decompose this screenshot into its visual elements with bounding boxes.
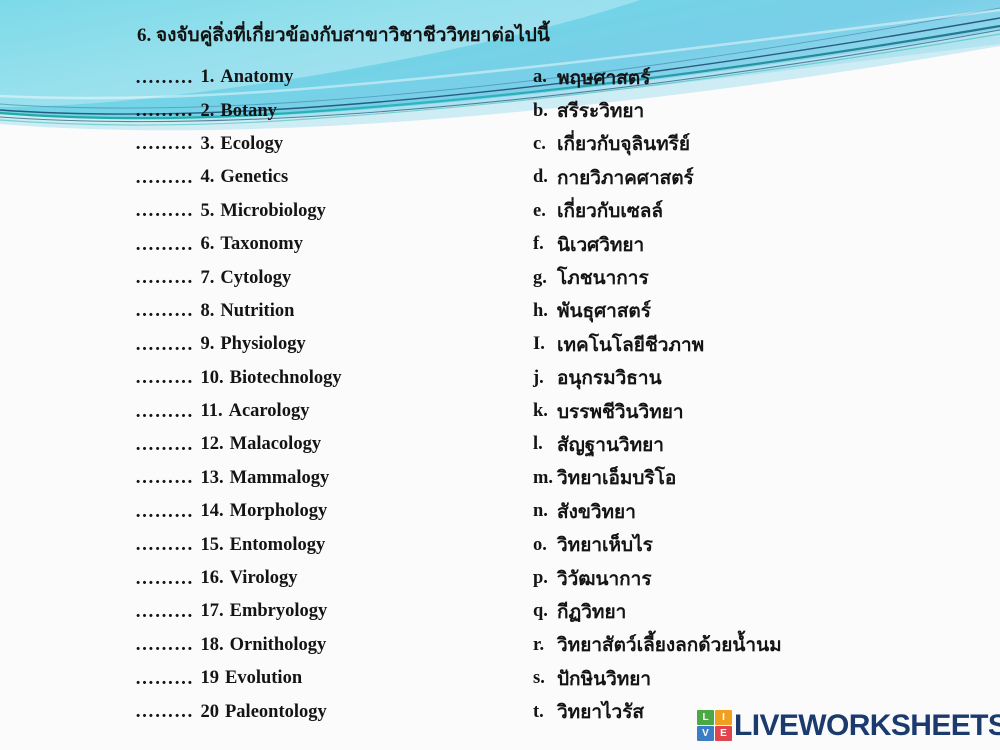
liveworksheets-logo-mark: LIVE [697,710,732,741]
question-number: 4. [194,167,215,188]
question-row[interactable]: ………10.Biotechnology [135,362,525,395]
question-number: 13. [194,468,224,489]
question-number: 2. [194,101,215,122]
option-term: พฤษศาสตร์ [557,63,650,93]
question-number: 18. [194,635,224,656]
question-term: Biotechnology [224,368,342,389]
question-number: 6. [194,234,215,255]
option-row[interactable]: g.โภชนาการ [533,261,973,294]
option-term: เทคโนโลยีชีวภาพ [557,330,704,360]
option-term: เกี่ยวกับเซลล์ [557,196,663,226]
question-number: 19 [194,668,220,689]
option-row[interactable]: r.วิทยาสัตว์เลี้ยงลกด้วยน้ำนม [533,629,973,662]
question-term: Microbiology [214,201,326,222]
question-row[interactable]: ………8.Nutrition [135,295,525,328]
question-term: Morphology [224,501,328,522]
option-row[interactable]: p.วิวัฒนาการ [533,562,973,595]
option-letter: b. [533,101,557,122]
page-title: 6. จงจับคู่สิ่งที่เกี่ยวข้องกับสาขาวิชาช… [137,26,550,47]
option-letter: l. [533,434,557,455]
option-term: สรีระวิทยา [557,96,644,126]
question-row[interactable]: ………17.Embryology [135,595,525,628]
question-term: Physiology [214,334,305,355]
option-term: โภชนาการ [557,263,649,293]
question-term: Cytology [214,268,291,289]
liveworksheets-wordmark: LIVEWORKSHEETS [734,711,1000,741]
answer-blank[interactable]: ……… [135,701,194,723]
question-number: 8. [194,301,215,322]
answer-blank[interactable]: ……… [135,200,194,222]
option-letter: m. [533,468,557,489]
answer-blank[interactable]: ……… [135,601,194,623]
option-term: สังขวิทยา [557,497,636,527]
question-row[interactable]: ………2.Botany [135,94,525,127]
question-number: 20 [194,702,220,723]
option-letter: r. [533,635,557,656]
option-term: นิเวศวิทยา [557,230,644,260]
question-number: 10. [194,368,224,389]
answer-blank[interactable]: ……… [135,434,194,456]
option-letter: j. [533,368,557,389]
question-term: Ornithology [224,635,327,656]
option-row[interactable]: I.เทคโนโลยีชีวภาพ [533,328,973,361]
option-term: ปักษินวิทยา [557,664,651,694]
option-term: วิวัฒนาการ [557,564,652,594]
question-row[interactable]: ………3.Ecology [135,128,525,161]
option-term: สัญฐานวิทยา [557,430,664,460]
question-term: Virology [224,568,298,589]
option-row[interactable]: o.วิทยาเห็บไร [533,528,973,561]
option-letter: t. [533,702,557,723]
answer-blank[interactable]: ……… [135,133,194,155]
question-row[interactable]: ………9.Physiology [135,328,525,361]
question-number: 12. [194,434,224,455]
question-row[interactable]: ………6.Taxonomy [135,228,525,261]
question-term: Malacology [224,434,321,455]
question-row[interactable]: ………4.Genetics [135,161,525,194]
option-row[interactable]: j.อนุกรมวิธาน [533,362,973,395]
question-term: Entomology [224,535,326,556]
question-term: Genetics [214,167,288,188]
question-row[interactable]: ………19Evolution [135,662,525,695]
question-row[interactable]: ………11.Acarology [135,395,525,428]
question-number: 3. [194,134,215,155]
option-row[interactable]: s.ปักษินวิทยา [533,662,973,695]
answer-blank[interactable]: ……… [135,367,194,389]
liveworksheets-logo: LIVE LIVEWORKSHEETS [697,710,1000,741]
option-row[interactable]: d.กายวิภาคศาสตร์ [533,161,973,194]
answer-blank[interactable]: ……… [135,634,194,656]
option-letter: h. [533,301,557,322]
logo-letter-tile: I [715,710,732,725]
question-number: 15. [194,535,224,556]
option-row[interactable]: f.นิเวศวิทยา [533,228,973,261]
question-row[interactable]: ………15.Entomology [135,528,525,561]
question-number: 14. [194,501,224,522]
answer-blank[interactable]: ……… [135,534,194,556]
option-row[interactable]: q.กีฏวิทยา [533,595,973,628]
question-term: Mammalogy [224,468,330,489]
question-row[interactable]: ………1.Anatomy [135,61,525,94]
option-letter: n. [533,501,557,522]
option-row[interactable]: l.สัญฐานวิทยา [533,428,973,461]
option-term: เกี่ยวกับจุลินทรีย์ [557,129,690,159]
question-term: Embryology [224,601,328,622]
option-term: วิทยาสัตว์เลี้ยงลกด้วยน้ำนม [557,630,782,660]
option-letter: I. [533,334,557,355]
option-letter: g. [533,268,557,289]
answer-blank[interactable]: ……… [135,167,194,189]
option-row[interactable]: n.สังขวิทยา [533,495,973,528]
option-column: a.พฤษศาสตร์b.สรีระวิทยาc.เกี่ยวกับจุลินท… [533,61,973,729]
option-letter: p. [533,568,557,589]
option-letter: e. [533,201,557,222]
option-row[interactable]: a.พฤษศาสตร์ [533,61,973,94]
question-term: Ecology [214,134,283,155]
question-row[interactable]: ………18.Ornithology [135,629,525,662]
option-letter: o. [533,535,557,556]
option-letter: k. [533,401,557,422]
question-row[interactable]: ………5.Microbiology [135,195,525,228]
question-term: Anatomy [214,67,293,88]
option-letter: s. [533,668,557,689]
question-number: 5. [194,201,215,222]
question-number: 17. [194,601,224,622]
question-term: Botany [214,101,277,122]
answer-blank[interactable]: ……… [135,67,194,89]
question-term: Acarology [223,401,310,422]
question-term: Taxonomy [214,234,303,255]
question-row[interactable]: ………12.Malacology [135,428,525,461]
answer-blank[interactable]: ……… [135,100,194,122]
worksheet-page: 6. จงจับคู่สิ่งที่เกี่ยวข้องกับสาขาวิชาช… [0,0,1000,750]
question-term: Paleontology [219,702,327,723]
question-number: 16. [194,568,224,589]
question-column: ………1.Anatomy………2.Botany………3.Ecology………4.… [135,61,525,729]
answer-blank[interactable]: ……… [135,267,194,289]
question-number: 1. [194,67,215,88]
option-term: วิทยาไวรัส [557,697,644,727]
question-term: Nutrition [214,301,294,322]
answer-blank[interactable]: ……… [135,300,194,322]
option-row[interactable]: e.เกี่ยวกับเซลล์ [533,195,973,228]
option-letter: f. [533,234,557,255]
option-row[interactable]: h.พันธุศาสตร์ [533,295,973,328]
option-row[interactable]: m.วิทยาเอ็มบริโอ [533,462,973,495]
option-term: พันธุศาสตร์ [557,296,651,326]
question-row[interactable]: ………20Paleontology [135,695,525,728]
option-letter: d. [533,167,557,188]
question-row[interactable]: ………14.Morphology [135,495,525,528]
option-row[interactable]: c.เกี่ยวกับจุลินทรีย์ [533,128,973,161]
option-letter: q. [533,601,557,622]
option-term: อนุกรมวิธาน [557,363,662,393]
option-term: กีฏวิทยา [557,597,626,627]
option-row[interactable]: k.บรรพชีวินวิทยา [533,395,973,428]
answer-blank[interactable]: ……… [135,568,194,590]
logo-letter-tile: L [697,710,714,725]
question-number: 7. [194,268,215,289]
option-letter: a. [533,67,557,88]
answer-blank[interactable]: ……… [135,234,194,256]
option-row[interactable]: b.สรีระวิทยา [533,94,973,127]
answer-blank[interactable]: ……… [135,401,194,423]
option-term: วิทยาเอ็มบริโอ [557,463,676,493]
question-term: Evolution [219,668,302,689]
logo-letter-tile: E [715,726,732,741]
option-letter: c. [533,134,557,155]
answer-blank[interactable]: ……… [135,467,194,489]
option-term: กายวิภาคศาสตร์ [557,163,694,193]
option-term: วิทยาเห็บไร [557,530,653,560]
question-row[interactable]: ………16.Virology [135,562,525,595]
answer-blank[interactable]: ……… [135,668,194,690]
answer-blank[interactable]: ……… [135,334,194,356]
option-term: บรรพชีวินวิทยา [557,397,684,427]
question-row[interactable]: ………13.Mammalogy [135,462,525,495]
logo-letter-tile: V [697,726,714,741]
question-row[interactable]: ………7.Cytology [135,261,525,294]
question-number: 9. [194,334,215,355]
question-number: 11. [194,401,223,422]
answer-blank[interactable]: ……… [135,501,194,523]
